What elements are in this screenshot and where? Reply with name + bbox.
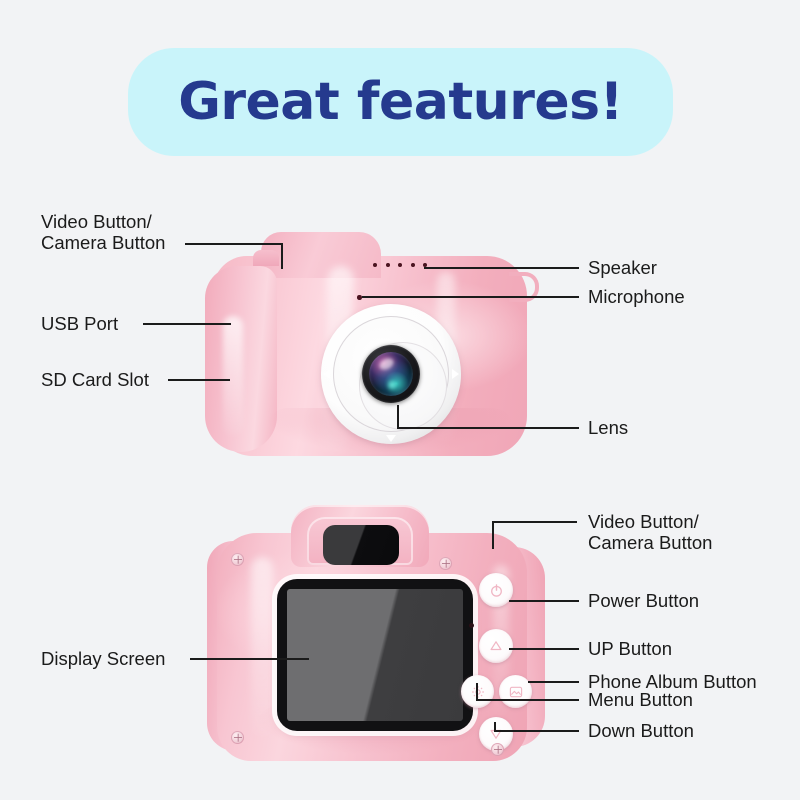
- speaker-holes: [373, 263, 427, 267]
- label-lens: Lens: [588, 417, 628, 438]
- label-video-camera-button-back: Video Button/ Camera Button: [588, 511, 712, 553]
- power-icon: [489, 583, 504, 598]
- screw-bottom-right: [491, 743, 504, 756]
- label-speaker: Speaker: [588, 257, 657, 278]
- label-sd-card-slot: SD Card Slot: [41, 369, 149, 390]
- label-display-screen: Display Screen: [41, 648, 165, 669]
- label-menu-button: Menu Button: [588, 689, 693, 710]
- leader-video-camera-button-front-v: [281, 243, 283, 269]
- screw-top-right: [439, 557, 452, 570]
- front-camera-top-hump: [261, 232, 381, 278]
- leader-phone-album-button: [528, 681, 579, 683]
- leader-microphone: [362, 296, 579, 298]
- lens-barrel: [362, 345, 420, 403]
- lens-tick-left: [323, 369, 330, 379]
- leader-usb-port: [143, 323, 231, 325]
- power-button[interactable]: [479, 573, 513, 607]
- leader-speaker: [424, 267, 579, 269]
- lens-glass: [369, 352, 413, 396]
- shutter-button-nub: [253, 250, 279, 266]
- grip-highlight: [223, 316, 243, 436]
- photo-album-icon: [508, 684, 524, 700]
- lens-tick-right: [452, 369, 459, 379]
- leader-video-camera-button-back-v: [492, 521, 494, 549]
- label-video-camera-button-front: Video Button/ Camera Button: [41, 211, 165, 253]
- status-led: [469, 623, 474, 628]
- back-camera-top-hump: [291, 505, 429, 567]
- leader-sd-card-slot: [168, 379, 230, 381]
- leader-down-button-h: [494, 730, 579, 732]
- screw-top-left: [231, 553, 244, 566]
- label-down-button: Down Button: [588, 720, 694, 741]
- header-banner: Great features!: [128, 48, 673, 156]
- display-screen: [287, 589, 463, 721]
- label-microphone: Microphone: [588, 286, 685, 307]
- leader-power-button: [509, 600, 579, 602]
- leader-menu-button-h: [476, 699, 579, 701]
- leader-display-screen: [190, 658, 309, 660]
- leader-lens-h: [397, 427, 579, 429]
- leader-lens-v: [397, 405, 399, 429]
- viewfinder-window: [323, 525, 399, 565]
- leader-video-camera-button-back-h: [492, 521, 577, 523]
- phone-album-button[interactable]: [499, 675, 532, 708]
- lens-outer-ring: [321, 304, 461, 444]
- leader-up-button: [509, 648, 579, 650]
- page-title: Great features!: [178, 76, 623, 128]
- screw-bottom-left: [231, 731, 244, 744]
- infographic-canvas: Great features!: [0, 0, 800, 800]
- label-usb-port: USB Port: [41, 313, 118, 334]
- lens-tick-bottom: [386, 435, 396, 442]
- leader-video-camera-button-front-h: [185, 243, 283, 245]
- lens-tick-top: [386, 306, 396, 313]
- label-power-button: Power Button: [588, 590, 699, 611]
- back-camera-illustration: [215, 505, 535, 763]
- triangle-up-icon: [489, 639, 503, 653]
- display-bezel: [277, 579, 473, 731]
- lens-highlight: [378, 356, 396, 372]
- label-up-button: UP Button: [588, 638, 672, 659]
- microphone-hole: [357, 295, 362, 300]
- lens-flare: [387, 378, 397, 392]
- up-button[interactable]: [479, 629, 513, 663]
